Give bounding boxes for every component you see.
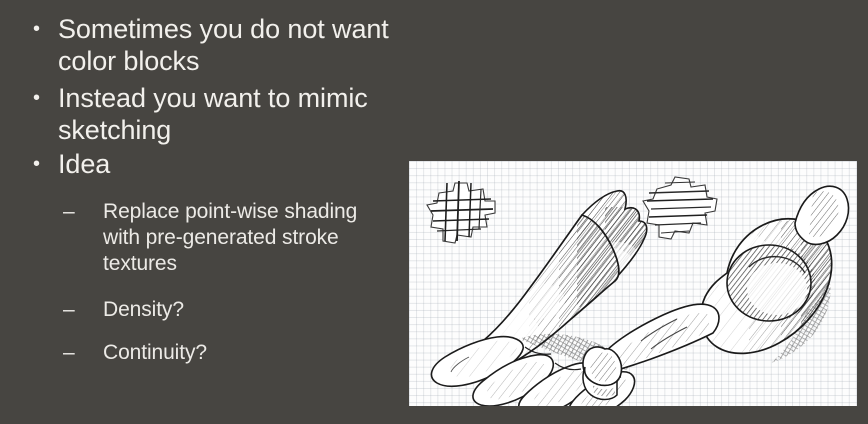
sketch-illustration <box>409 161 857 406</box>
sub-bullet-text: Continuity? <box>103 340 207 366</box>
crosshatch-stroke-swatch <box>427 181 495 243</box>
bullet-text: Instead you want to mimic sketching <box>58 82 420 146</box>
sub-bullet-item-3: – Continuity? <box>63 340 207 366</box>
sub-bullet-text: Density? <box>103 297 184 323</box>
bullet-item-1: • Sometimes you do not want color blocks <box>33 13 420 77</box>
horizontal-stroke-swatch <box>643 177 717 239</box>
sub-bullet-text: Replace point-wise shading with pre-gene… <box>103 199 363 277</box>
figure-panel <box>409 161 857 406</box>
slide-canvas: • Sometimes you do not want color blocks… <box>0 0 868 424</box>
bullet-marker-icon: • <box>33 148 58 180</box>
bullet-marker-icon: • <box>33 82 58 114</box>
dash-marker-icon: – <box>63 297 103 323</box>
bullet-item-3: • Idea <box>33 148 110 180</box>
dash-marker-icon: – <box>63 199 103 225</box>
sub-bullet-item-1: – Replace point-wise shading with pre-ge… <box>63 199 363 277</box>
bullet-item-2: • Instead you want to mimic sketching <box>33 82 420 146</box>
dash-marker-icon: – <box>63 340 103 366</box>
sub-bullet-item-2: – Density? <box>63 297 184 323</box>
bullet-marker-icon: • <box>33 13 58 45</box>
bullet-text: Sometimes you do not want color blocks <box>58 13 420 77</box>
bullet-text: Idea <box>58 148 110 180</box>
